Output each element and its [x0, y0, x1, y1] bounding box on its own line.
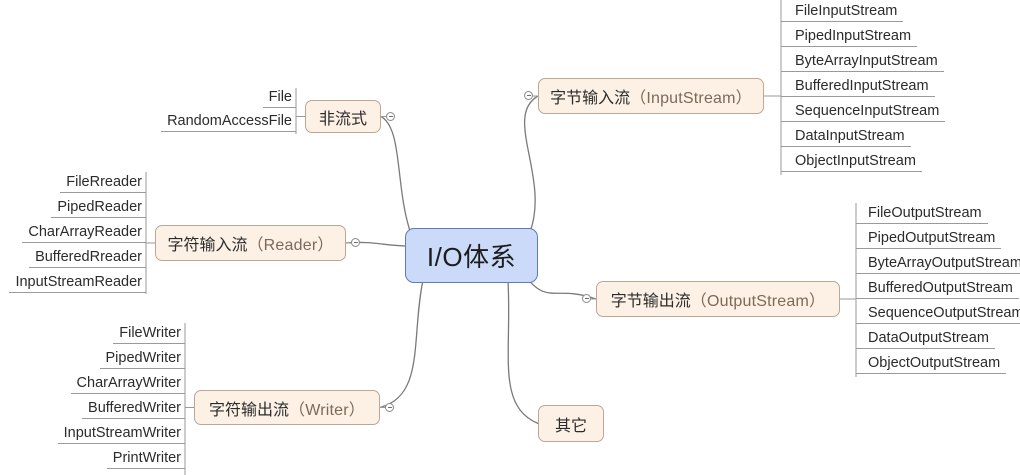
leaf-underline — [9, 292, 146, 293]
branch-node-byte-input-stream[interactable]: 字节输入流（InputStream） — [538, 78, 764, 114]
branch-label-latin: （OutputStream） — [691, 287, 825, 311]
collapse-handle-char-output-stream[interactable] — [385, 403, 394, 412]
branch-label-cjk: 字符输出流 — [209, 396, 289, 420]
leaf-item[interactable]: SequenceInputStream — [795, 101, 939, 121]
link-root-to-non-stream — [381, 117, 411, 235]
branch-node-char-output-stream[interactable]: 字符输出流（Writer） — [194, 390, 380, 425]
leaf-underline — [781, 171, 922, 172]
leaf-underline — [29, 267, 146, 268]
leaf-underline — [781, 71, 944, 72]
branch-label-cjk: 字符输入流 — [167, 231, 247, 255]
leaf-underline — [856, 273, 1020, 274]
branch-node-byte-output-stream[interactable]: 字节输出流（OutputStream） — [596, 281, 840, 317]
leaf-underline — [113, 343, 185, 344]
leaf-underline — [781, 146, 911, 147]
mindmap-canvas: I/O体系非流式FileRandomAccessFile字符输入流（Reader… — [0, 0, 1020, 475]
leaf-underline — [856, 323, 1020, 324]
leaf-underline — [71, 393, 185, 394]
leaf-item[interactable]: SequenceOutputStream — [868, 303, 1020, 323]
leaf-underline — [856, 298, 1019, 299]
branch-label-latin: （Reader） — [247, 231, 333, 255]
branch-label-cjk: 其它 — [555, 412, 587, 436]
leaf-underline — [263, 107, 296, 108]
leaf-underline — [856, 373, 1006, 374]
link-root-to-byte-input-stream — [525, 96, 538, 232]
branch-label-cjk: 字节输入流 — [550, 84, 630, 108]
leaf-underline — [22, 242, 146, 243]
leaf-item[interactable]: PipedReader — [57, 197, 142, 217]
leaf-item[interactable]: BufferedInputStream — [795, 76, 929, 96]
leaf-item[interactable]: ObjectInputStream — [795, 151, 916, 171]
link-root-to-other — [508, 281, 538, 424]
leaf-underline — [781, 46, 917, 47]
leaf-underline — [856, 348, 995, 349]
leaf-underline — [856, 223, 988, 224]
branch-label-cjk: 字节输出流 — [611, 287, 691, 311]
leaf-item[interactable]: PipedInputStream — [795, 26, 911, 46]
branch-node-non-stream[interactable]: 非流式 — [305, 100, 381, 133]
collapse-handle-byte-output-stream[interactable] — [582, 294, 591, 303]
leaf-item[interactable]: FileOutputStream — [868, 203, 982, 223]
leaf-underline — [107, 468, 185, 469]
branch-node-char-input-stream[interactable]: 字符输入流（Reader） — [155, 225, 346, 261]
leaf-underline — [856, 248, 1001, 249]
leaf-underline — [781, 21, 903, 22]
leaf-item[interactable]: ByteArrayOutputStream — [868, 253, 1020, 273]
leaf-item[interactable]: BufferedRreader — [35, 247, 142, 267]
leaf-item[interactable]: PrintWriter — [113, 448, 181, 468]
leaf-item[interactable]: DataOutputStream — [868, 328, 989, 348]
collapse-handle-char-input-stream[interactable] — [351, 238, 360, 247]
leaf-underline — [100, 368, 185, 369]
branch-label-latin: （Writer） — [289, 396, 365, 420]
leaf-item[interactable]: ObjectOutputStream — [868, 353, 1000, 373]
collapse-handle-byte-input-stream[interactable] — [524, 91, 533, 100]
root-node[interactable]: I/O体系 — [405, 228, 538, 283]
leaf-item[interactable]: ByteArrayInputStream — [795, 51, 938, 71]
leaf-item[interactable]: File — [269, 87, 292, 107]
leaf-item[interactable]: FileRreader — [66, 172, 142, 192]
leaf-underline — [781, 121, 945, 122]
leaf-item[interactable]: DataInputStream — [795, 126, 905, 146]
leaf-underline — [58, 443, 185, 444]
leaf-item[interactable]: FileWriter — [119, 323, 181, 343]
branch-label-latin: （InputStream） — [630, 84, 752, 108]
leaf-underline — [82, 418, 185, 419]
leaf-item[interactable]: PipedOutputStream — [868, 228, 995, 248]
branch-label-cjk: 非流式 — [319, 105, 367, 129]
leaf-underline — [781, 96, 935, 97]
leaf-item[interactable]: PipedWriter — [106, 348, 181, 368]
leaf-item[interactable]: InputStreamReader — [15, 272, 142, 292]
leaf-underline — [161, 131, 296, 132]
leaf-underline — [60, 192, 146, 193]
collapse-handle-non-stream[interactable] — [386, 112, 395, 121]
leaf-item[interactable]: CharArrayWriter — [77, 373, 181, 393]
leaf-item[interactable]: BufferedOutputStream — [868, 278, 1013, 298]
link-root-to-char-output-stream — [380, 280, 423, 408]
branch-node-other[interactable]: 其它 — [538, 405, 604, 442]
leaf-item[interactable]: InputStreamWriter — [64, 423, 181, 443]
leaf-item[interactable]: BufferedWriter — [88, 398, 181, 418]
leaf-item[interactable]: FileInputStream — [795, 1, 897, 21]
leaf-underline — [51, 217, 146, 218]
leaf-item[interactable]: CharArrayReader — [28, 222, 142, 242]
leaf-item[interactable]: RandomAccessFile — [167, 111, 292, 131]
